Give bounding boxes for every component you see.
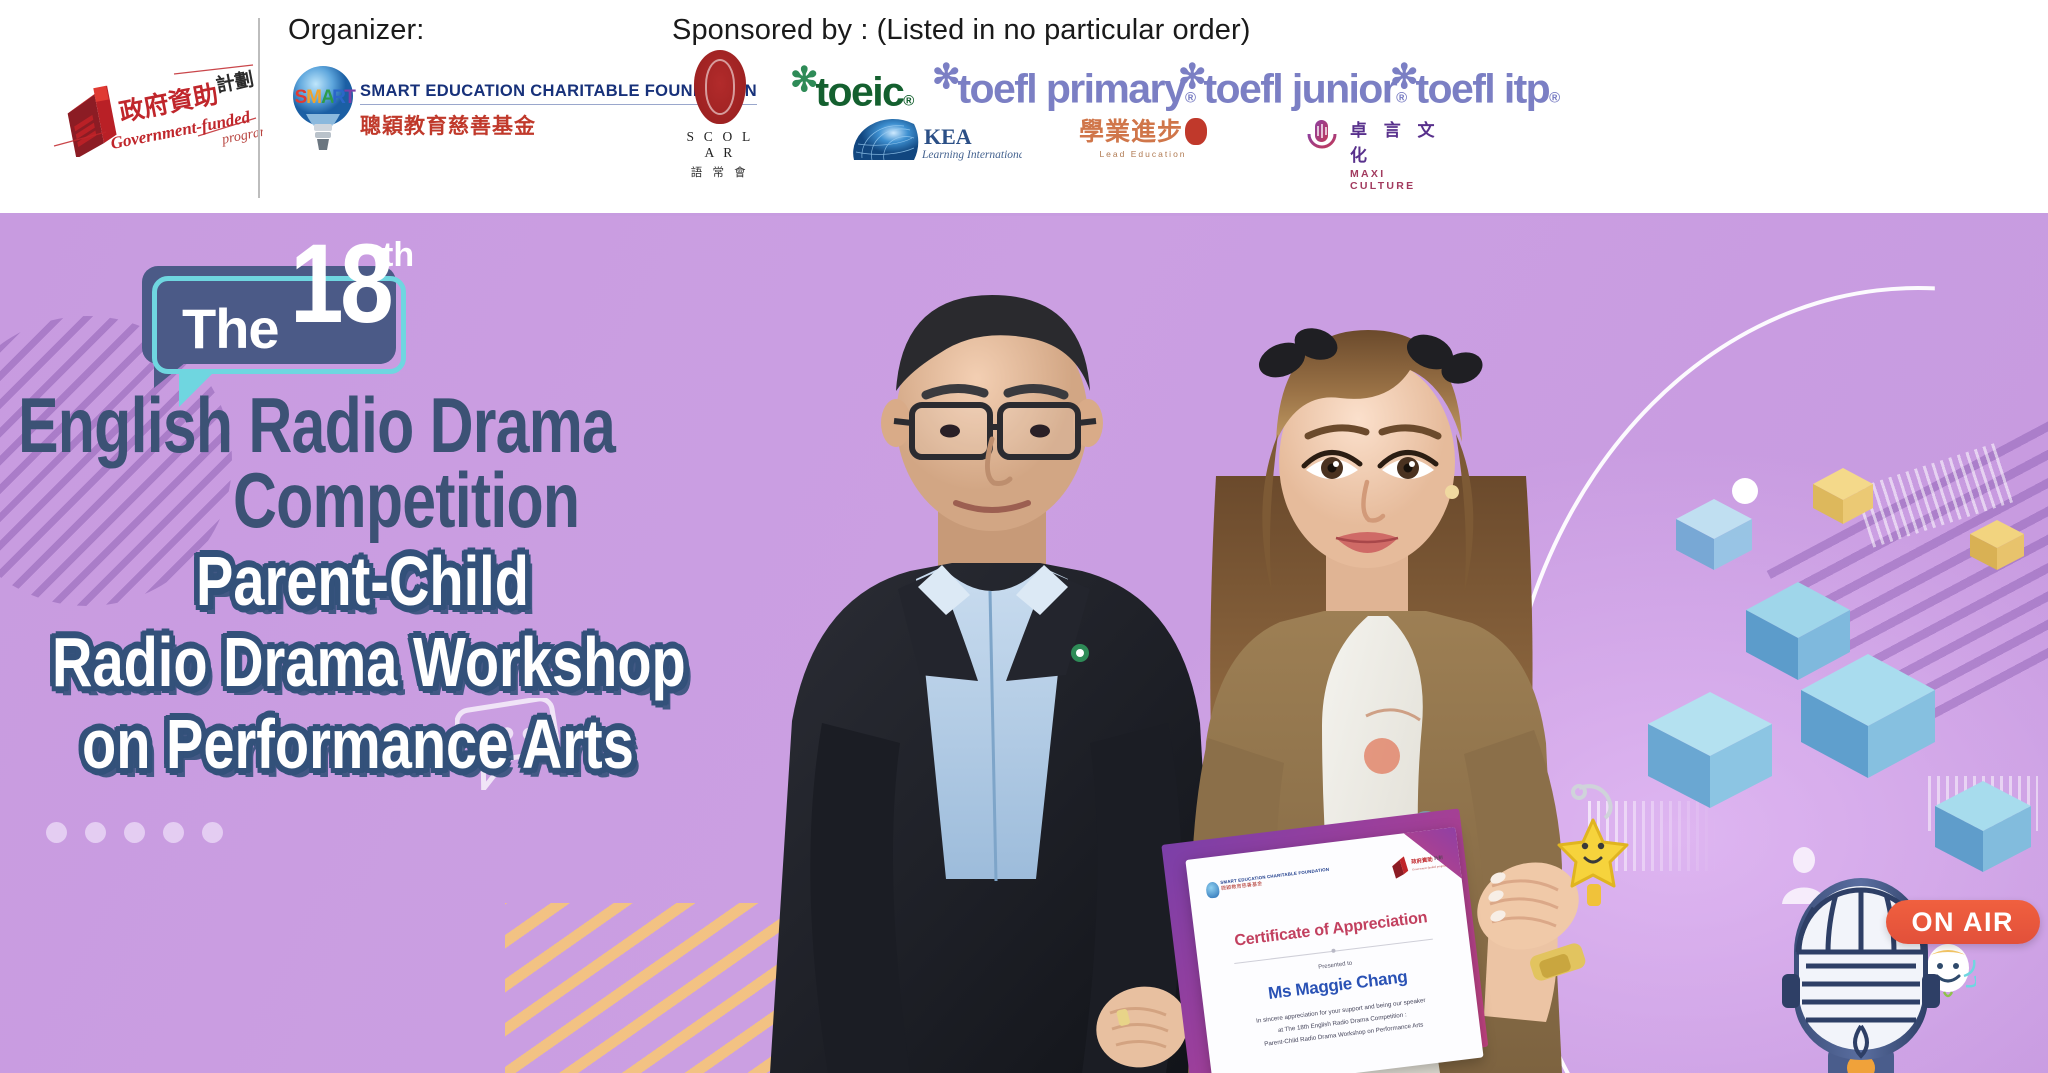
asterisk-icon: ✻ [932, 58, 958, 96]
subtitle-line-1: Parent-Child [196, 546, 639, 617]
subtitle-line-2: Radio Drama Workshop [52, 627, 610, 698]
isometric-cube-icon [1966, 516, 2028, 574]
sponsor-logo-maxi-culture: 卓 言 文 化 MAXI CULTURE [1300, 112, 1450, 162]
dot [85, 822, 106, 843]
kea-wordmark: KEA [924, 124, 972, 149]
certificate-gov-logo: 政府資助 計劃 Government-funded programme [1389, 851, 1447, 880]
dot [124, 822, 145, 843]
sponsor-header: 政府資助 計劃 Government-funded programme Orga… [0, 0, 2048, 216]
maxi-culture-en: MAXI CULTURE [1350, 168, 1450, 192]
poster-page: 政府資助 計劃 Government-funded programme Orga… [0, 0, 2048, 1073]
dot [163, 822, 184, 843]
asterisk-icon: ✻ [790, 61, 816, 99]
kea-tagline: Learning International [921, 149, 1022, 161]
svg-text:計劃: 計劃 [214, 67, 256, 97]
title-line-1: English Radio Drama [18, 388, 564, 463]
smart-lightbulb-icon [1205, 881, 1220, 898]
subtitle-line-3: on Performance Arts [82, 709, 616, 780]
badge-the: The [182, 296, 279, 361]
maxi-microphone-icon [1300, 114, 1344, 158]
yellow-star-keychain [1545, 784, 1641, 912]
on-air-badge: ON AIR [1886, 900, 2041, 944]
sponsor-logo-lead-education: 學業進步 Lead Education [1078, 112, 1208, 164]
edition-badge: The 18 th [152, 276, 406, 382]
certificate-face: SMART EDUCATION CHARITABLE FOUNDATION 聰穎… [1185, 827, 1483, 1073]
scolar-name-en: S C O L A R [680, 129, 760, 161]
svg-text:T: T [344, 87, 356, 108]
svg-text:政府資助: 政府資助 [1411, 855, 1434, 866]
dot [202, 822, 223, 843]
decorative-dots [46, 822, 223, 843]
badge-number: 18 [290, 228, 390, 340]
organizer-label: Organizer: [288, 14, 424, 47]
lead-education-cn: 學業進步 [1078, 112, 1208, 148]
dot [46, 822, 67, 843]
certificate-header-logos: SMART EDUCATION CHARITABLE FOUNDATION 聰穎… [1202, 852, 1450, 910]
toefl-junior-wordmark: toefl junior [1204, 66, 1397, 112]
sponsor-logo-scolar: S C O L A R 語 常 會 [680, 50, 760, 162]
event-photo: SMART EDUCATION CHARITABLE FOUNDATION 聰穎… [700, 216, 1830, 1073]
certificate-organizer-block: SMART EDUCATION CHARITABLE FOUNDATION 聰穎… [1220, 867, 1330, 892]
svg-text:M: M [306, 87, 322, 108]
scolar-name-cn: 語 常 會 [680, 164, 760, 180]
lead-education-en: Lead Education [1078, 149, 1208, 159]
sponsor-logo-toeic: ✻toeic® [790, 60, 913, 116]
smart-lightbulb-icon: S M A R T [288, 62, 358, 154]
sponsor-label: Sponsored by : (Listed in no particular … [672, 14, 1250, 47]
sponsor-logo-kea: KEA Learning International [852, 118, 1022, 164]
sponsor-logo-toefl-itp: ✻toefl itp® [1390, 57, 1559, 113]
svg-text:計劃: 計劃 [1434, 854, 1444, 862]
title-line-2: Competition [233, 463, 611, 538]
lead-education-seal-icon [1185, 118, 1207, 145]
asterisk-icon: ✻ [1178, 58, 1204, 96]
certificate-of-appreciation: SMART EDUCATION CHARITABLE FOUNDATION 聰穎… [1177, 819, 1504, 1073]
toefl-itp-wordmark: toefl itp [1416, 66, 1550, 112]
header-divider [258, 18, 260, 198]
maxi-culture-cn: 卓 言 文 化 [1350, 116, 1450, 166]
sponsor-logo-toefl-primary: ✻toefl primary® [932, 57, 1195, 113]
page-subtitle: Parent-Child Radio Drama Workshop on Per… [10, 546, 750, 780]
toefl-primary-wordmark: toefl primary [958, 66, 1186, 112]
government-funded-programme-logo: 政府資助 計劃 Government-funded programme [48, 62, 263, 157]
banner-title-block: The 18 th English Radio Drama Competitio… [0, 216, 760, 1073]
toeic-wordmark: toeic [816, 69, 904, 115]
badge-ordinal: th [382, 236, 414, 275]
scolar-seal-icon [694, 50, 746, 124]
asterisk-icon: ✻ [1390, 58, 1416, 96]
page-title: English Radio Drama Competition [18, 388, 718, 538]
kea-globe-icon [853, 119, 918, 160]
certificate-title: Certificate of Appreciation [1195, 904, 1467, 955]
sponsor-logo-toefl-junior: ✻toefl junior® [1178, 57, 1406, 113]
